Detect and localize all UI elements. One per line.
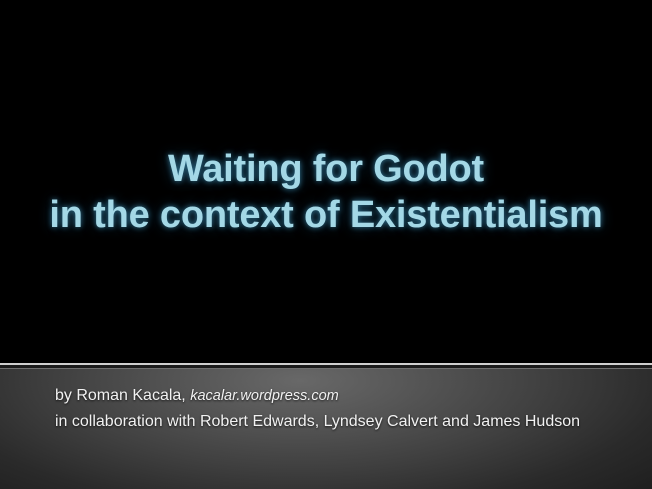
- slide-title-line-1: Waiting for Godot: [0, 146, 652, 192]
- slide-footer-band: by Roman Kacala, kacalar.wordpress.com i…: [0, 369, 652, 489]
- slide-title-line-2: in the context of Existentialism: [0, 192, 652, 238]
- collaboration-row: in collaboration with Robert Edwards, Ly…: [55, 409, 632, 434]
- byline-url[interactable]: kacalar.wordpress.com: [190, 388, 339, 404]
- byline-row: by Roman Kacala, kacalar.wordpress.com: [55, 383, 632, 409]
- byline-author: by Roman Kacala,: [55, 387, 186, 404]
- slide-title-block: Waiting for Godot in the context of Exis…: [0, 146, 652, 238]
- slide-footer-content: by Roman Kacala, kacalar.wordpress.com i…: [55, 383, 632, 434]
- presentation-slide: Waiting for Godot in the context of Exis…: [0, 0, 652, 489]
